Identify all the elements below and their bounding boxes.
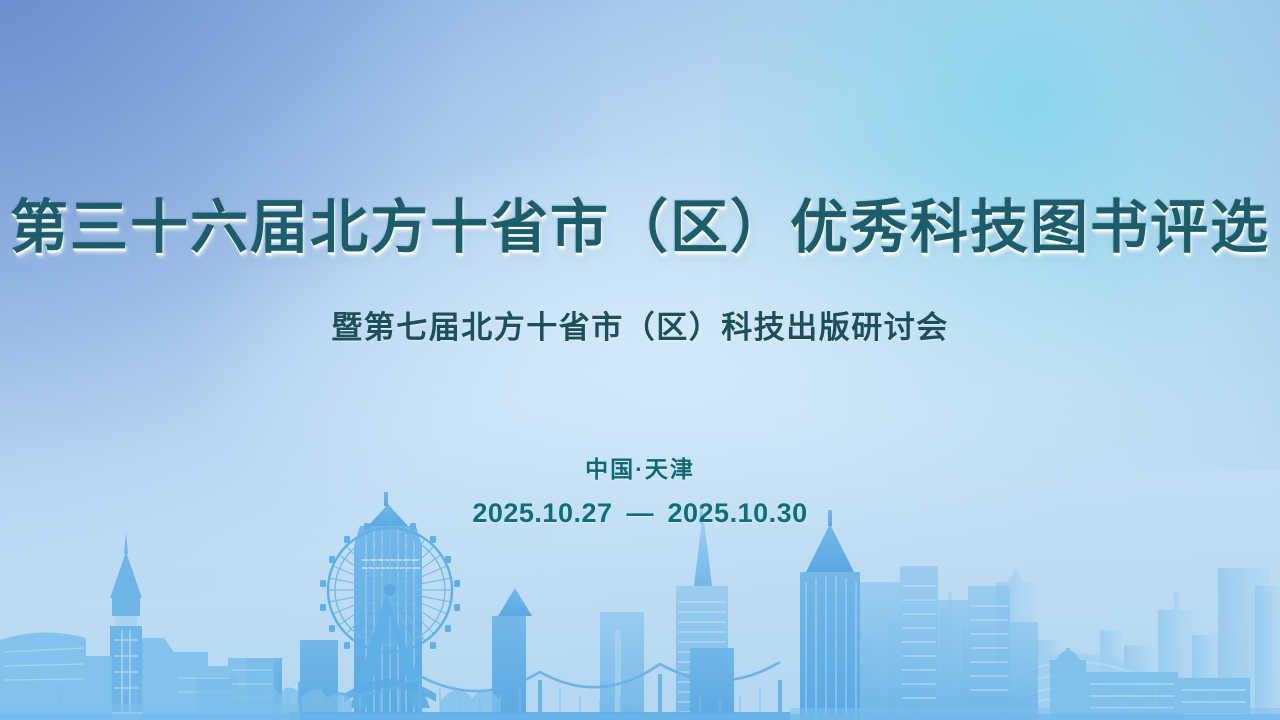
conference-poster: 第三十六届北方十省市（区）优秀科技图书评选 暨第七届北方十省市（区）科技出版研讨… (0, 0, 1280, 720)
event-start-date: 2025.10.27 (472, 498, 612, 528)
event-end-date: 2025.10.30 (668, 498, 808, 528)
poster-text-content: 第三十六届北方十省市（区）优秀科技图书评选 暨第七届北方十省市（区）科技出版研讨… (0, 0, 1280, 720)
event-date-range: 2025.10.27—2025.10.30 (0, 498, 1280, 529)
date-range-separator: — (613, 498, 668, 528)
page-subtitle: 暨第七届北方十省市（区）科技出版研讨会 (0, 302, 1280, 347)
event-location: 中国·天津 (0, 450, 1280, 484)
page-title: 第三十六届北方十省市（区）优秀科技图书评选 (0, 196, 1280, 260)
